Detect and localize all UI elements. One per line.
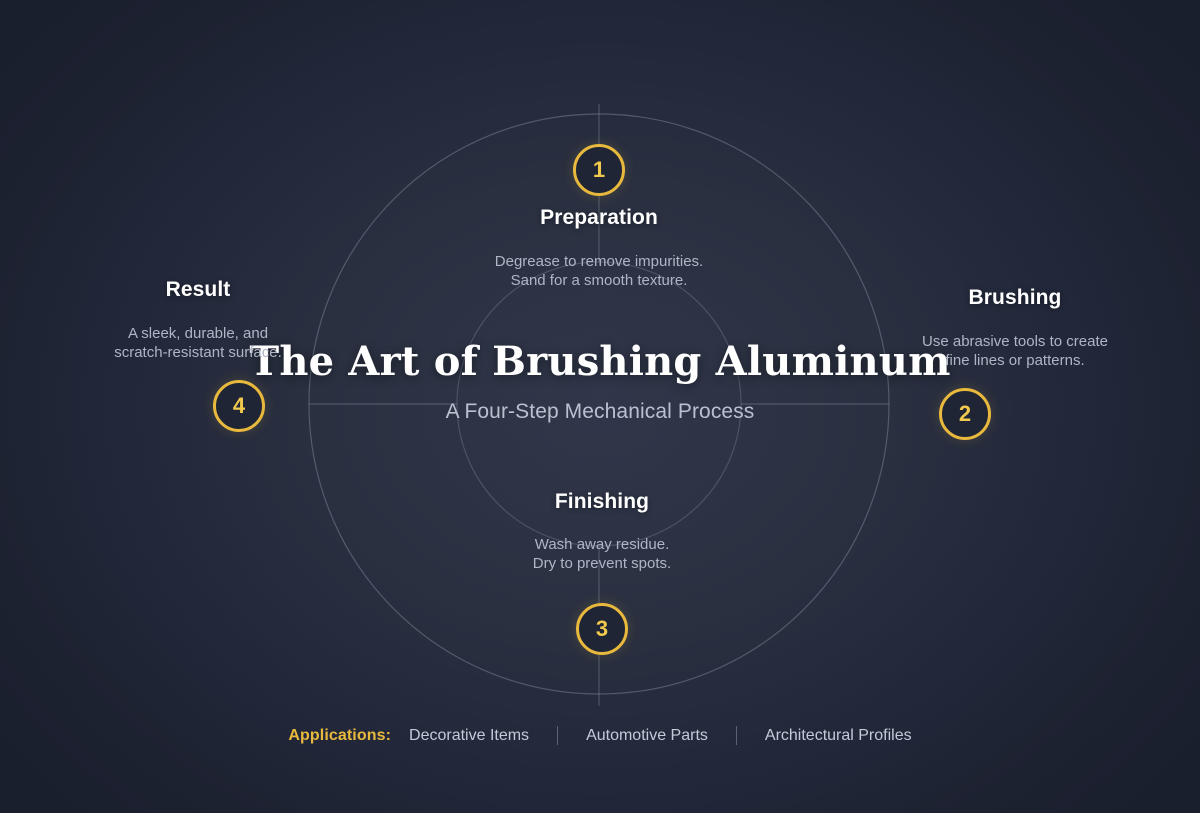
step-1-preparation[interactable]: 1 Preparation Degrease to remove impurit… — [399, 144, 799, 290]
application-item-1[interactable]: Decorative Items — [409, 727, 529, 745]
step-4-number-badge: 4 — [213, 380, 265, 432]
infographic-canvas: The Art of Brushing Aluminum A Four-Step… — [0, 0, 1200, 813]
step-2-title: Brushing — [880, 286, 1150, 310]
step-1-number-badge: 1 — [573, 144, 625, 196]
application-item-2[interactable]: Automotive Parts — [586, 727, 708, 745]
step-4-result[interactable]: Result A sleek, durable, and scratch-res… — [52, 278, 344, 432]
step-2-brushing[interactable]: Brushing Use abrasive tools to create fi… — [880, 286, 1150, 440]
applications-label: Applications: — [288, 727, 391, 745]
step-3-description: Wash away residue. Dry to prevent spots. — [402, 535, 802, 573]
step-3-number-badge: 3 — [576, 603, 628, 655]
applications-footer: Applications: Decorative Items Automotiv… — [0, 726, 1200, 745]
step-2-description: Use abrasive tools to create fine lines … — [880, 332, 1150, 370]
step-4-description: A sleek, durable, and scratch-resistant … — [52, 324, 344, 362]
application-item-3[interactable]: Architectural Profiles — [765, 727, 912, 745]
step-4-title: Result — [52, 278, 344, 302]
footer-separator-2 — [736, 726, 737, 745]
step-3-title: Finishing — [402, 490, 802, 514]
step-2-number-badge: 2 — [939, 388, 991, 440]
footer-separator-1 — [557, 726, 558, 745]
step-1-title: Preparation — [399, 206, 799, 230]
step-1-description: Degrease to remove impurities. Sand for … — [399, 252, 799, 290]
step-3-finishing[interactable]: Finishing Wash away residue. Dry to prev… — [402, 490, 802, 655]
